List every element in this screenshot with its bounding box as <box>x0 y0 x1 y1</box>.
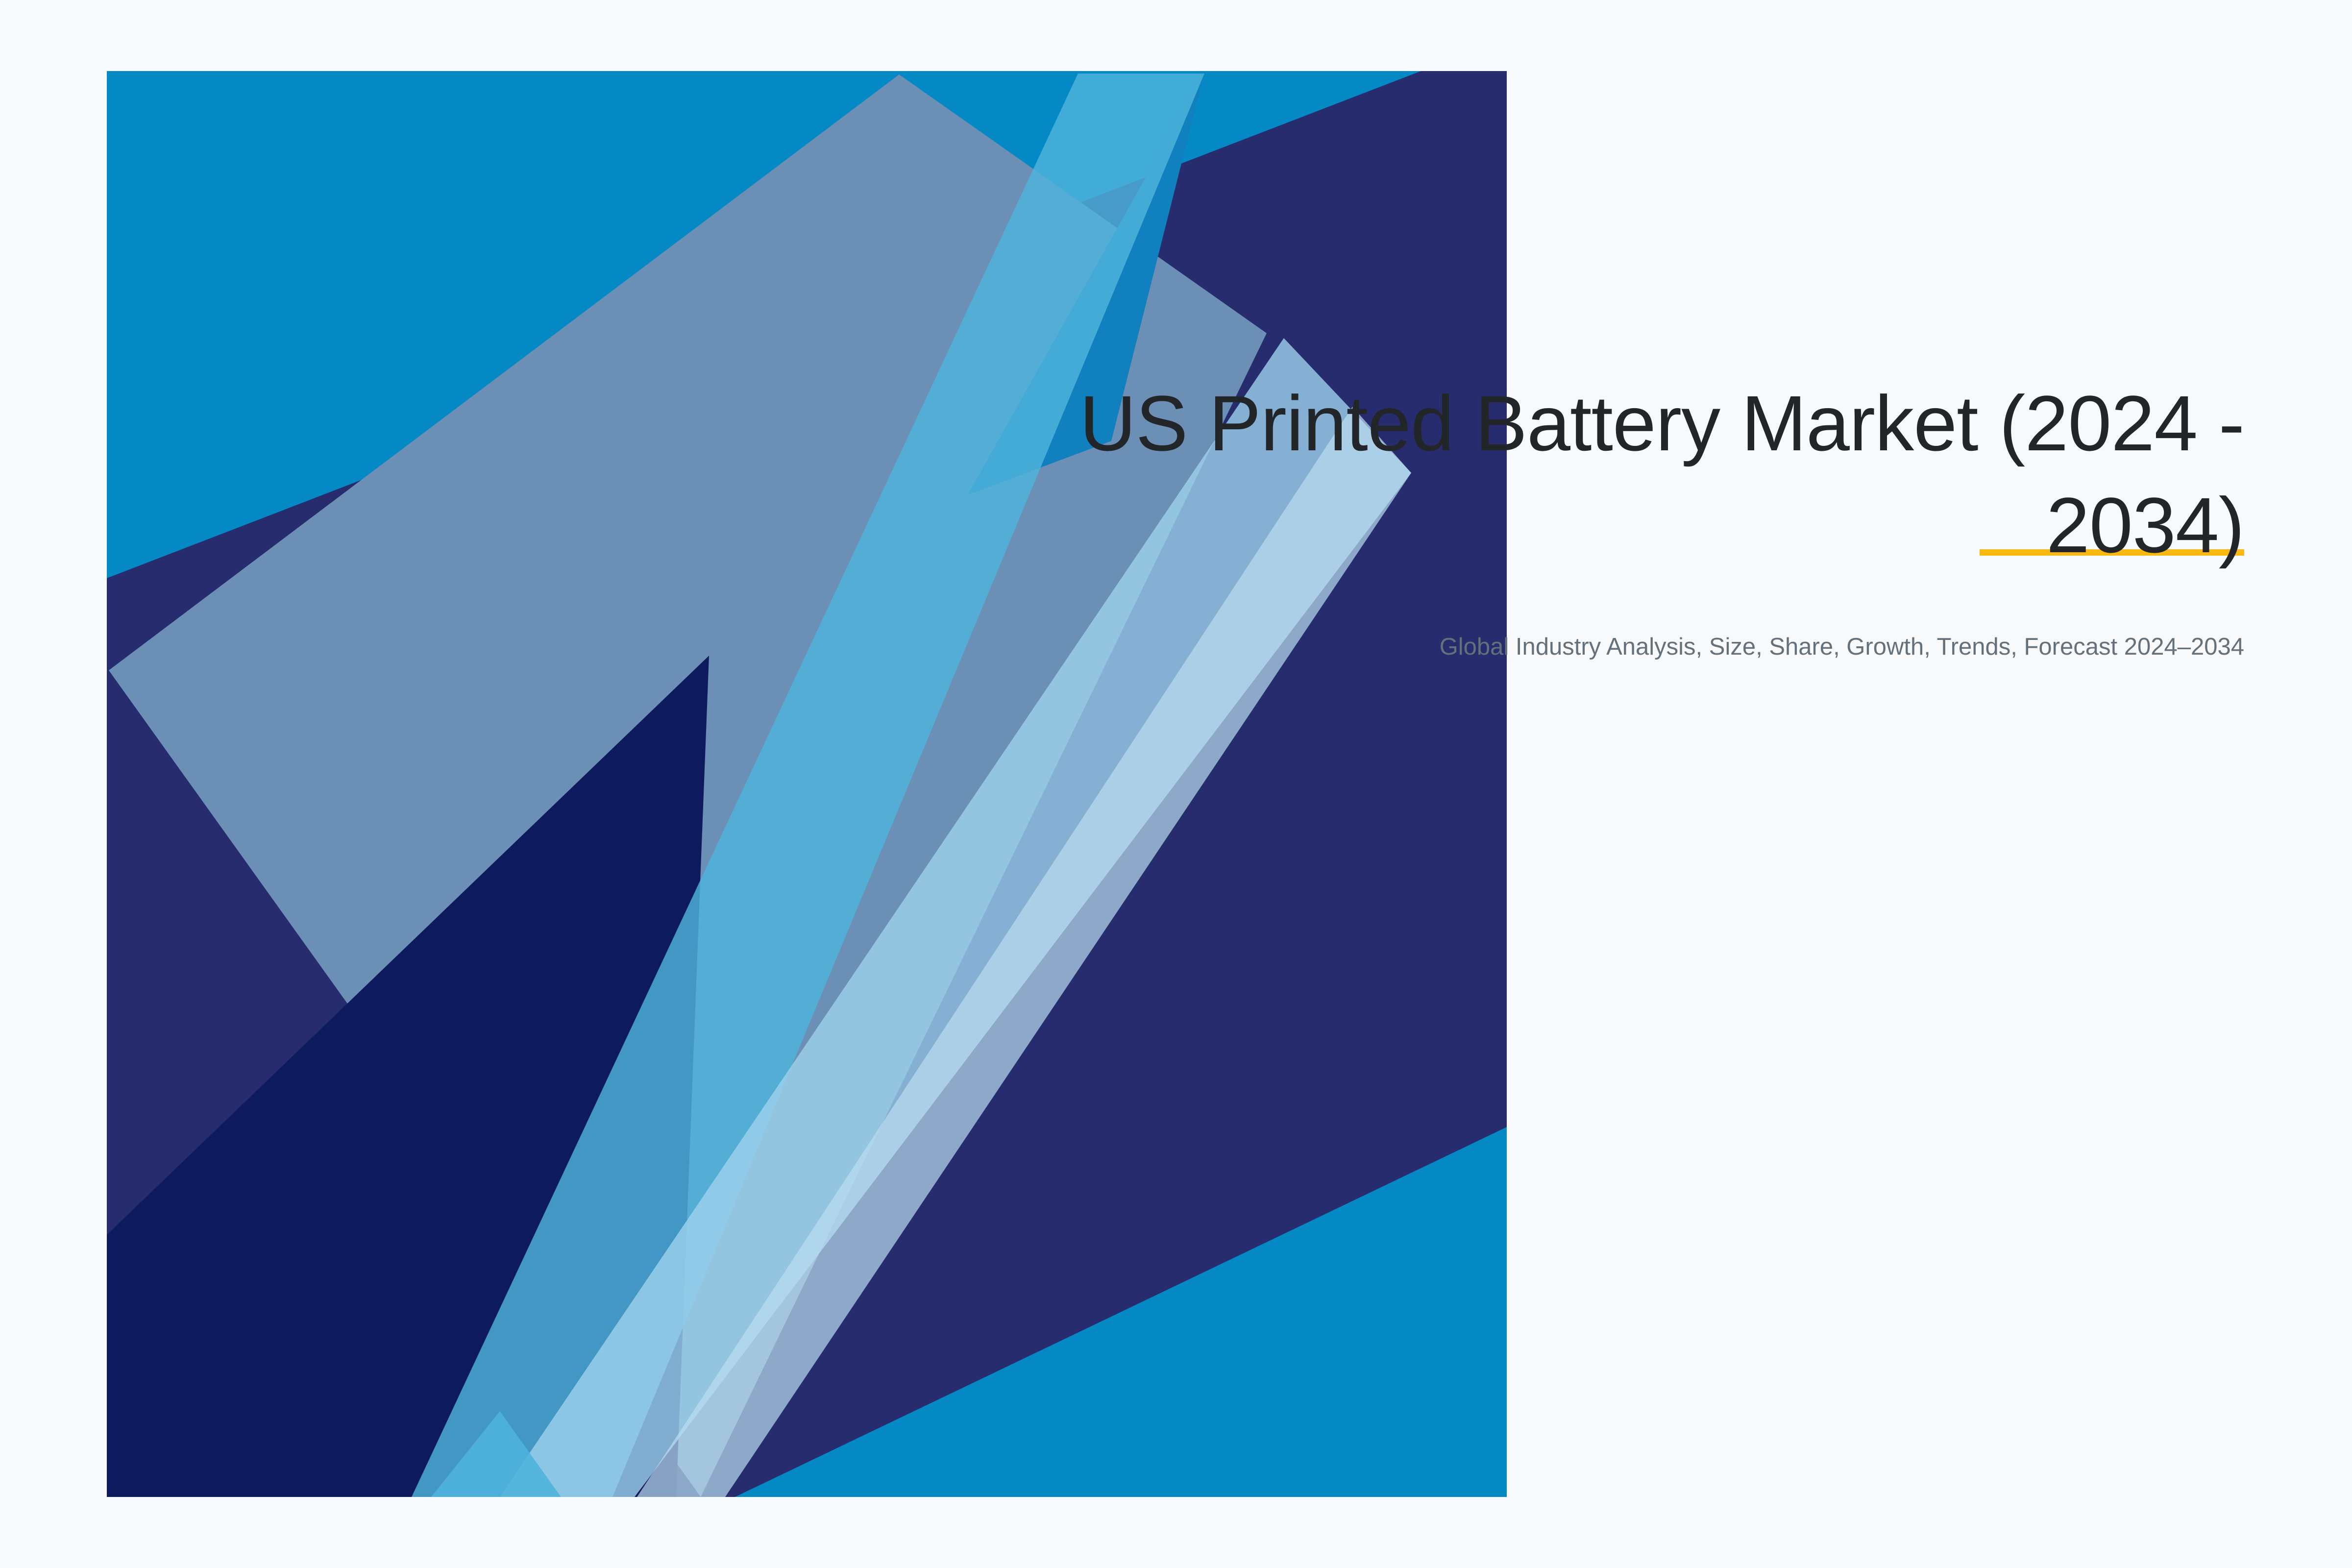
page-title: US Printed Battery Market (2024 - 2034) <box>931 372 2244 576</box>
title-text-block: US Printed Battery Market (2024 - 2034) … <box>931 372 2244 663</box>
page-subtitle: Global Industry Analysis, Size, Share, G… <box>931 576 2244 663</box>
abstract-geometric-banner <box>0 0 2352 1568</box>
title-slide: US Printed Battery Market (2024 - 2034) … <box>0 0 2352 1568</box>
title-wrapper: US Printed Battery Market (2024 - 2034) <box>931 372 2244 576</box>
